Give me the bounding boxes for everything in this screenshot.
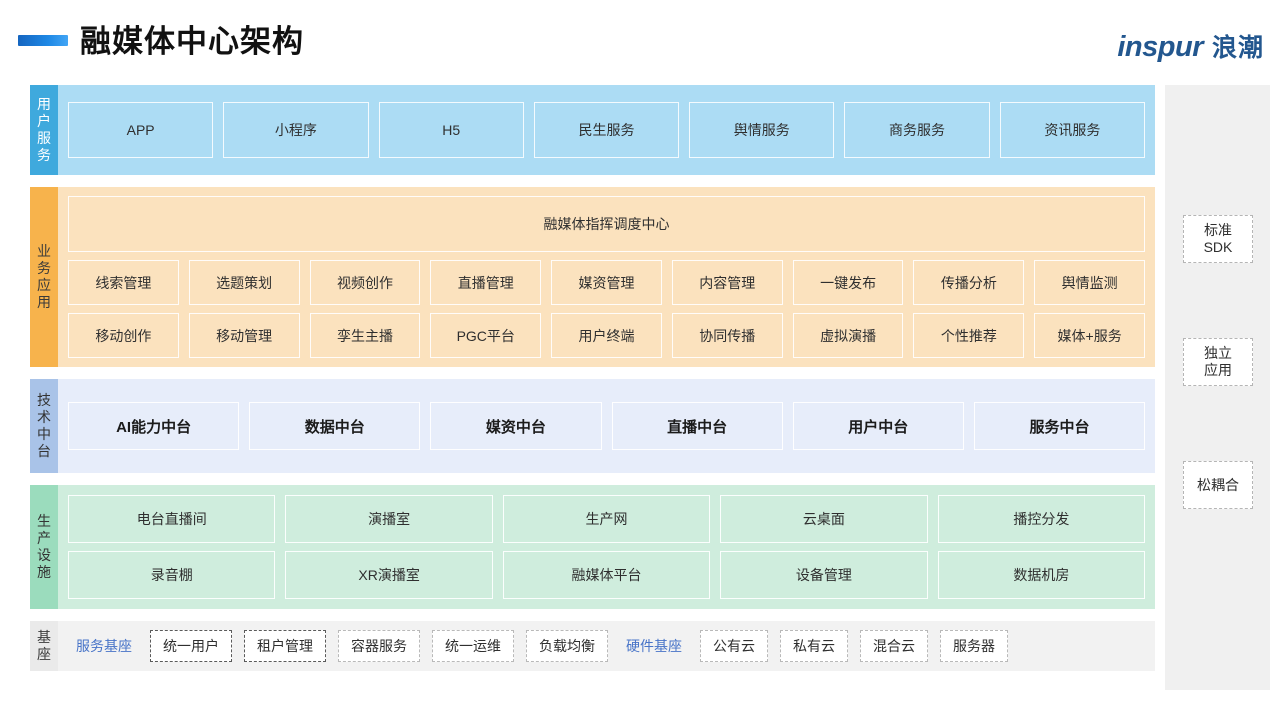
cell-broadcast-distribution[interactable]: 播控分发 <box>938 495 1145 543</box>
cell-clue-management[interactable]: 线索管理 <box>68 260 179 305</box>
layer-row: 移动创作 移动管理 孪生主播 PGC平台 用户终端 协同传播 虚拟演播 个性推荐… <box>68 313 1145 358</box>
foundation-row: 服务基座 统一用户 租户管理 容器服务 统一运维 负载均衡 硬件基座 公有云 私… <box>70 630 1143 662</box>
cell-pgc-platform[interactable]: PGC平台 <box>430 313 541 358</box>
cell-data-center-room[interactable]: 数据机房 <box>938 551 1145 599</box>
page-title: 融媒体中心架构 <box>80 16 304 61</box>
cell-digital-twin-anchor[interactable]: 孪生主播 <box>310 313 421 358</box>
cell-mobile-creation[interactable]: 移动创作 <box>68 313 179 358</box>
command-center-banner[interactable]: 融媒体指挥调度中心 <box>68 196 1145 252</box>
foundation-item-server[interactable]: 服务器 <box>940 630 1008 662</box>
cell-virtual-studio[interactable]: 虚拟演播 <box>793 313 904 358</box>
brand-logo: inspur 浪潮 <box>1117 28 1264 64</box>
layer-production-facility: 生产设施 电台直播间 演播室 生产网 云桌面 播控分发 录音棚 XR演播室 融媒… <box>30 485 1155 609</box>
cell-h5[interactable]: H5 <box>379 102 524 158</box>
cell-mobile-management[interactable]: 移动管理 <box>189 313 300 358</box>
layer-tab-label: 生产设施 <box>37 513 52 581</box>
layer-body-technology-middle-platform: AI能力中台 数据中台 媒资中台 直播中台 用户中台 服务中台 <box>58 379 1155 473</box>
layer-row: 线索管理 选题策划 视频创作 直播管理 媒资管理 内容管理 一键发布 传播分析 … <box>68 260 1145 305</box>
side-box-line2: SDK <box>1204 239 1233 256</box>
cell-service-platform[interactable]: 服务中台 <box>974 402 1145 450</box>
architecture-diagram: 用户服务 APP 小程序 H5 民生服务 舆情服务 商务服务 资讯服务 业务应用… <box>30 85 1155 671</box>
foundation-item-unified-ops[interactable]: 统一运维 <box>432 630 514 662</box>
cell-production-network[interactable]: 生产网 <box>503 495 710 543</box>
title-accent-bar <box>18 35 68 46</box>
cell-media-asset-platform[interactable]: 媒资中台 <box>430 402 601 450</box>
foundation-item-private-cloud[interactable]: 私有云 <box>780 630 848 662</box>
side-box-line1: 标准 <box>1204 222 1233 239</box>
cell-video-creation[interactable]: 视频创作 <box>310 260 421 305</box>
foundation-item-hybrid-cloud[interactable]: 混合云 <box>860 630 928 662</box>
cell-media-convergence-platform[interactable]: 融媒体平台 <box>503 551 710 599</box>
layer-tab-label: 基座 <box>37 629 52 663</box>
cell-business-service[interactable]: 商务服务 <box>844 102 989 158</box>
side-box-independent-application[interactable]: 独立 应用 <box>1183 338 1253 386</box>
layer-body-business-application: 融媒体指挥调度中心 线索管理 选题策划 视频创作 直播管理 媒资管理 内容管理 … <box>58 187 1155 367</box>
layer-body-foundation: 服务基座 统一用户 租户管理 容器服务 统一运维 负载均衡 硬件基座 公有云 私… <box>58 621 1155 671</box>
layer-body-production-facility: 电台直播间 演播室 生产网 云桌面 播控分发 录音棚 XR演播室 融媒体平台 设… <box>58 485 1155 609</box>
foundation-item-hardware-base[interactable]: 硬件基座 <box>620 631 688 661</box>
layer-tab-label: 用户服务 <box>37 96 52 164</box>
cell-livelihood-service[interactable]: 民生服务 <box>534 102 679 158</box>
cell-app[interactable]: APP <box>68 102 213 158</box>
cell-data-platform[interactable]: 数据中台 <box>249 402 420 450</box>
cell-user-terminal[interactable]: 用户终端 <box>551 313 662 358</box>
cell-opinion-service[interactable]: 舆情服务 <box>689 102 834 158</box>
layer-foundation: 基座 服务基座 统一用户 租户管理 容器服务 统一运维 负载均衡 硬件基座 公有… <box>30 621 1155 671</box>
cell-live-platform[interactable]: 直播中台 <box>612 402 783 450</box>
layer-tab-foundation: 基座 <box>30 621 58 671</box>
layer-row: 录音棚 XR演播室 融媒体平台 设备管理 数据机房 <box>68 551 1145 599</box>
cell-collaborative-dissemination[interactable]: 协同传播 <box>672 313 783 358</box>
cell-user-platform[interactable]: 用户中台 <box>793 402 964 450</box>
cell-device-management[interactable]: 设备管理 <box>720 551 927 599</box>
cell-opinion-monitoring[interactable]: 舆情监测 <box>1034 260 1145 305</box>
foundation-item-unified-user[interactable]: 统一用户 <box>150 630 232 662</box>
cell-topic-planning[interactable]: 选题策划 <box>189 260 300 305</box>
layer-body-user-service: APP 小程序 H5 民生服务 舆情服务 商务服务 资讯服务 <box>58 85 1155 175</box>
layer-user-service: 用户服务 APP 小程序 H5 民生服务 舆情服务 商务服务 资讯服务 <box>30 85 1155 175</box>
cell-content-management[interactable]: 内容管理 <box>672 260 783 305</box>
cell-xr-studio[interactable]: XR演播室 <box>285 551 492 599</box>
cell-media-plus-service[interactable]: 媒体+服务 <box>1034 313 1145 358</box>
layer-row: AI能力中台 数据中台 媒资中台 直播中台 用户中台 服务中台 <box>68 402 1145 450</box>
layer-technology-middle-platform: 技术中台 AI能力中台 数据中台 媒资中台 直播中台 用户中台 服务中台 <box>30 379 1155 473</box>
cell-studio[interactable]: 演播室 <box>285 495 492 543</box>
cell-news-service[interactable]: 资讯服务 <box>1000 102 1145 158</box>
layer-business-application: 业务应用 融媒体指挥调度中心 线索管理 选题策划 视频创作 直播管理 媒资管理 … <box>30 187 1155 367</box>
side-box-line2: 应用 <box>1204 362 1232 379</box>
layer-tab-business-application: 业务应用 <box>30 187 58 367</box>
side-box-loose-coupling[interactable]: 松耦合 <box>1183 461 1253 509</box>
cell-media-asset-management[interactable]: 媒资管理 <box>551 260 662 305</box>
cell-radio-live-room[interactable]: 电台直播间 <box>68 495 275 543</box>
cell-cloud-desktop[interactable]: 云桌面 <box>720 495 927 543</box>
layer-tab-user-service: 用户服务 <box>30 85 58 175</box>
cell-dissemination-analysis[interactable]: 传播分析 <box>913 260 1024 305</box>
layer-row: APP 小程序 H5 民生服务 舆情服务 商务服务 资讯服务 <box>68 102 1145 158</box>
foundation-item-load-balancing[interactable]: 负载均衡 <box>526 630 608 662</box>
layer-tab-production-facility: 生产设施 <box>30 485 58 609</box>
layer-tab-label: 业务应用 <box>37 243 52 311</box>
side-panel: 标准 SDK 独立 应用 松耦合 <box>1165 85 1270 690</box>
brand-latin-text: inspur <box>1117 31 1203 64</box>
cell-live-management[interactable]: 直播管理 <box>430 260 541 305</box>
layer-row: 电台直播间 演播室 生产网 云桌面 播控分发 <box>68 495 1145 543</box>
cell-recording-studio[interactable]: 录音棚 <box>68 551 275 599</box>
page-header: 融媒体中心架构 inspur 浪潮 <box>0 0 1280 78</box>
foundation-item-public-cloud[interactable]: 公有云 <box>700 630 768 662</box>
cell-ai-capability-platform[interactable]: AI能力中台 <box>68 402 239 450</box>
layer-tab-technology-middle-platform: 技术中台 <box>30 379 58 473</box>
brand-chinese-text: 浪潮 <box>1212 28 1264 64</box>
foundation-item-container-service[interactable]: 容器服务 <box>338 630 420 662</box>
cell-personalized-recommendation[interactable]: 个性推荐 <box>913 313 1024 358</box>
layer-tab-label: 技术中台 <box>37 392 52 460</box>
cell-mini-program[interactable]: 小程序 <box>223 102 368 158</box>
side-box-standard-sdk[interactable]: 标准 SDK <box>1183 215 1253 263</box>
foundation-item-service-base[interactable]: 服务基座 <box>70 631 138 661</box>
foundation-item-tenant-management[interactable]: 租户管理 <box>244 630 326 662</box>
side-box-line1: 松耦合 <box>1197 477 1239 494</box>
side-box-line1: 独立 <box>1204 345 1232 362</box>
cell-one-click-publish[interactable]: 一键发布 <box>793 260 904 305</box>
